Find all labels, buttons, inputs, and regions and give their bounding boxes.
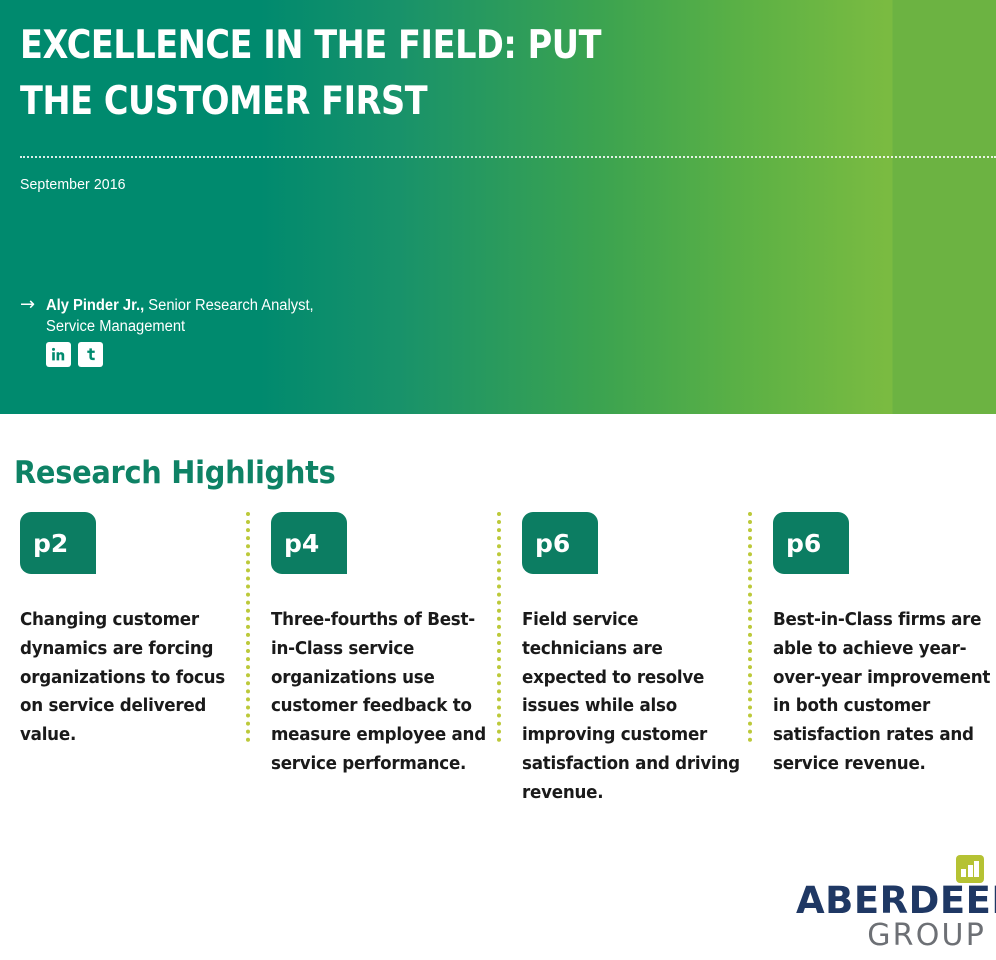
highlight-card: p6 Field service technicians are expecte… — [522, 512, 754, 808]
highlight-card: p2 Changing customer dynamics are forcin… — [20, 512, 252, 750]
page-reference-badge[interactable]: p2 — [20, 512, 96, 574]
publication-date: September 2016 — [20, 176, 126, 193]
page-reference-badge[interactable]: p6 — [522, 512, 598, 574]
social-links — [46, 342, 540, 367]
highlight-card: p6 Best-in-Class firms are able to achie… — [773, 512, 996, 779]
author-line: → Aly Pinder Jr., Senior Research Analys… — [20, 295, 540, 337]
arrow-right-icon: → — [20, 295, 46, 315]
highlight-text: Changing customer dynamics are forcing o… — [20, 606, 242, 750]
page-reference-badge[interactable]: p6 — [773, 512, 849, 574]
bar-chart-bar — [968, 865, 973, 877]
author-block: → Aly Pinder Jr., Senior Research Analys… — [20, 295, 540, 367]
highlight-text: Best-in-Class firms are able to achieve … — [773, 606, 995, 779]
highlight-card: p4 Three-fourths of Best-in-Class servic… — [271, 512, 503, 779]
logo-secondary-text: GROUP — [796, 920, 986, 952]
author-department: Service Management — [46, 316, 314, 337]
bar-chart-icon — [956, 855, 984, 883]
section-title: Research Highlights — [14, 455, 336, 491]
bar-chart-bar — [974, 861, 979, 877]
linkedin-icon[interactable] — [46, 342, 71, 367]
document-header: EXCELLENCE IN THE FIELD: PUT THE CUSTOME… — [0, 0, 996, 414]
logo-primary-text: ABERDEEN — [796, 882, 986, 920]
author-role: Senior Research Analyst, — [144, 297, 313, 314]
header-divider-rule — [20, 156, 996, 158]
author-name: Aly Pinder Jr., — [46, 297, 144, 314]
page-reference-badge[interactable]: p4 — [271, 512, 347, 574]
aberdeen-group-logo: ABERDEEN GROUP — [796, 858, 986, 952]
page-title: EXCELLENCE IN THE FIELD: PUT THE CUSTOME… — [20, 18, 725, 130]
research-highlights-section: Research Highlights p2 Changing customer… — [0, 414, 996, 960]
bar-chart-bar — [961, 869, 966, 877]
author-text: Aly Pinder Jr., Senior Research Analyst,… — [46, 295, 314, 337]
highlight-text: Field service technicians are expected t… — [522, 606, 744, 808]
twitter-icon[interactable] — [78, 342, 103, 367]
highlight-text: Three-fourths of Best-in-Class service o… — [271, 606, 493, 779]
